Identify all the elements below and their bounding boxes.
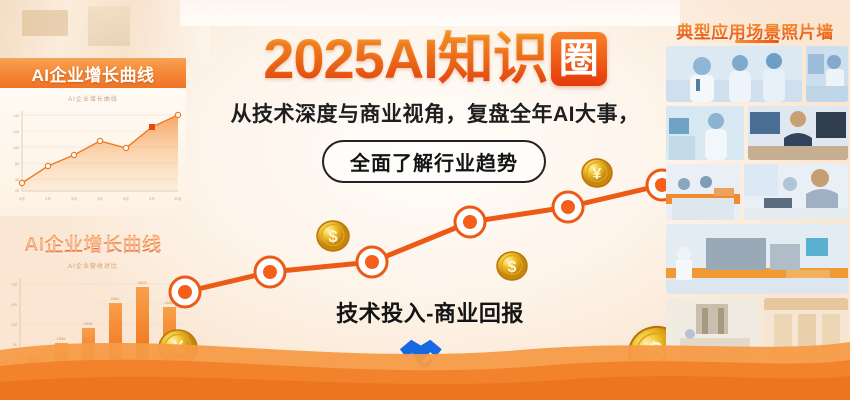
svg-text:450: 450 (11, 303, 17, 307)
svg-text:$: $ (508, 259, 517, 276)
headline-main-text: 2025AI知识 (263, 30, 548, 88)
poster-canvas: AI企业增长曲线 AI企业增长曲线 (0, 0, 850, 400)
svg-text:9月: 9月 (149, 196, 155, 201)
background-wash-top (180, 0, 680, 26)
background-photo-wash-topleft (0, 0, 210, 62)
poster-subtitle: 从技术深度与商业视角，复盘全年AI大事， (190, 98, 680, 128)
left-panel-2-chart-title: AI企业营收对比 (0, 257, 186, 270)
left-panel-growth-curve: AI企业增长曲线 AI企业增长曲线 (0, 58, 186, 216)
dollar-coin: $ (317, 221, 349, 251)
svg-text:6月: 6月 (123, 196, 129, 201)
svg-text:4月: 4月 (97, 196, 103, 201)
left-panel-2-header: AI企业增长曲线 (0, 226, 186, 257)
bottom-wave-band (0, 320, 850, 400)
svg-text:700: 700 (11, 283, 17, 287)
photo-production-inspection[interactable] (666, 106, 744, 160)
svg-text:68: 68 (15, 162, 19, 166)
industry-trend-badge[interactable]: 全面了解行业趋势 (322, 140, 546, 183)
photo-factory-line[interactable] (666, 164, 740, 220)
left-panel-1-header: AI企业增长曲线 (0, 58, 186, 88)
svg-text:$: $ (328, 227, 338, 246)
photo-lab-equipment[interactable] (806, 46, 848, 102)
photo-medical-team[interactable] (666, 46, 802, 102)
svg-text:2650: 2650 (165, 300, 175, 305)
left-panel-1-area-chart: 148128 10868 4820 4月2月 9月4月 6月9月 11月 (0, 103, 186, 211)
photo-laptop-office[interactable] (744, 164, 848, 220)
svg-text:48: 48 (15, 178, 19, 182)
svg-text:9月: 9月 (71, 196, 77, 201)
photo-wall-divider (735, 40, 779, 43)
svg-text:2月: 2月 (45, 196, 51, 201)
poster-headline: 2025AI知识 圈 (200, 28, 670, 90)
svg-text:11月: 11月 (174, 196, 181, 201)
svg-text:108: 108 (13, 146, 19, 150)
svg-text:128: 128 (13, 130, 19, 134)
yen-coin: ¥ (582, 159, 612, 187)
svg-text:4月: 4月 (19, 196, 25, 201)
dollar-coin: $ (497, 252, 527, 280)
photo-automation-line[interactable] (666, 224, 848, 294)
left-panel-1-chart-title: AI企业增长曲线 (0, 88, 186, 103)
svg-text:2650: 2650 (111, 296, 121, 301)
svg-text:3605: 3605 (138, 280, 148, 285)
photo-office-multiscreen[interactable] (748, 106, 848, 160)
svg-text:20: 20 (15, 189, 19, 193)
svg-text:¥: ¥ (593, 166, 602, 183)
svg-text:148: 148 (13, 114, 19, 118)
headline-boxed-character: 圈 (551, 32, 607, 86)
